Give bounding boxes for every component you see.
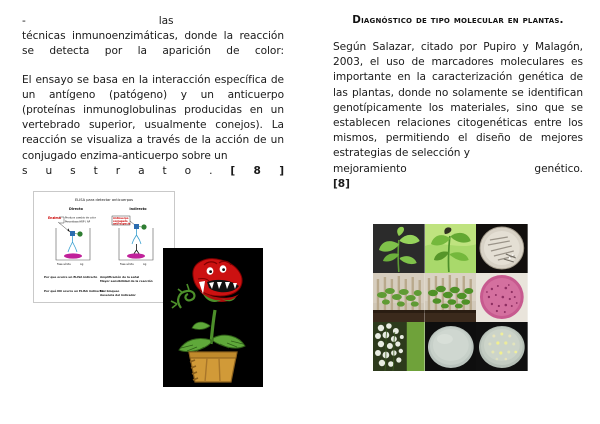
photo-cell-petri-sample-spots xyxy=(476,322,528,371)
right-paragraph: Según Salazar, citado por Pupiro y Malag… xyxy=(333,40,583,162)
svg-text:Peroxidasa HRP / AP: Peroxidasa HRP / AP xyxy=(65,220,91,224)
left-paragraph-2-lastline-text: s u s t r a t o . xyxy=(22,165,212,177)
left-paragraph-2: El ensayo se basa en la interacción espe… xyxy=(22,73,284,164)
svg-text:Mayor sensibilidad de la reacc: Mayor sensibilidad de la reacción xyxy=(100,279,153,283)
svg-text:Indirecto: Indirecto xyxy=(129,207,147,211)
right-text-column: Diagnóstico de tipo molecular en plantas… xyxy=(333,14,583,192)
svg-text:Ag: Ag xyxy=(143,262,147,266)
carnivorous-plant-svg xyxy=(163,248,263,387)
photo-cell-pink-agar xyxy=(476,273,528,322)
left-text-column: - las técnicas inmunoenzimáticas, donde … xyxy=(22,14,284,179)
right-paragraph-lastline-tail: genético. xyxy=(534,163,583,175)
left-paragraph-2-lastline: s u s t r a t o . [ 8 ] xyxy=(22,164,284,179)
svg-text:Ag: Ag xyxy=(80,262,84,266)
photo-cell-petri-streak xyxy=(476,224,528,273)
left-paragraph-1: - las técnicas inmunoenzimáticas, donde … xyxy=(22,14,284,60)
svg-text:Ausencia del indicador: Ausencia del indicador xyxy=(100,293,136,297)
section-heading: Diagnóstico de tipo molecular en plantas… xyxy=(333,14,583,26)
elisa-diagram-svg: ELISA para detectar anticuerpos Directo … xyxy=(34,192,174,302)
right-reference-8: [8] xyxy=(333,178,350,190)
svg-text:Fase sólida: Fase sólida xyxy=(57,262,71,266)
right-paragraph-lastline-word: mejoramiento xyxy=(333,163,407,175)
photo-cell-plantlets-tray-right xyxy=(425,273,477,322)
left-paragraph-1-word-las: las xyxy=(159,15,174,27)
photo-cell-clear-petri-dish xyxy=(425,322,477,371)
svg-text:Directo: Directo xyxy=(69,207,84,211)
document-page: - las técnicas inmunoenzimáticas, donde … xyxy=(0,0,600,424)
photo-cell-white-flowering-shrub xyxy=(373,322,425,371)
elisa-diagram: ELISA para detectar anticuerpos Directo … xyxy=(33,191,175,303)
photo-cell-seedling-green xyxy=(425,224,477,273)
left-paragraph-1-text: - xyxy=(22,15,26,27)
svg-text:anti-especie: anti-especie xyxy=(113,222,131,226)
plant-biotech-photo-grid xyxy=(373,224,528,371)
svg-text:Por qué NO ocurre un ELISA ind: Por qué NO ocurre un ELISA indirecto xyxy=(44,289,103,293)
svg-text:Enzima: Enzima xyxy=(48,216,61,220)
svg-text:Por que ocurre un ELISA indire: Por que ocurre un ELISA indirecto xyxy=(44,275,97,279)
left-reference-8: [ 8 ] xyxy=(230,165,284,177)
carnivorous-plant-illustration xyxy=(163,248,263,387)
left-paragraph-2-body: El ensayo se basa en la interacción espe… xyxy=(22,74,284,162)
right-paragraph-lastline: mejoramiento genético.[8] xyxy=(333,162,583,192)
right-paragraph-body: Según Salazar, citado por Pupiro y Malag… xyxy=(333,41,583,159)
photo-cell-seedling-dark xyxy=(373,224,425,273)
svg-text:Produce cambio de color: Produce cambio de color xyxy=(65,216,97,220)
left-paragraph-1-word-tecnicas: técnicas xyxy=(22,30,66,42)
photo-cell-plantlets-tray-left xyxy=(373,273,425,322)
svg-text:Fase sólida: Fase sólida xyxy=(120,262,134,266)
svg-text:ELISA para detectar anticuerpo: ELISA para detectar anticuerpos xyxy=(75,198,133,202)
